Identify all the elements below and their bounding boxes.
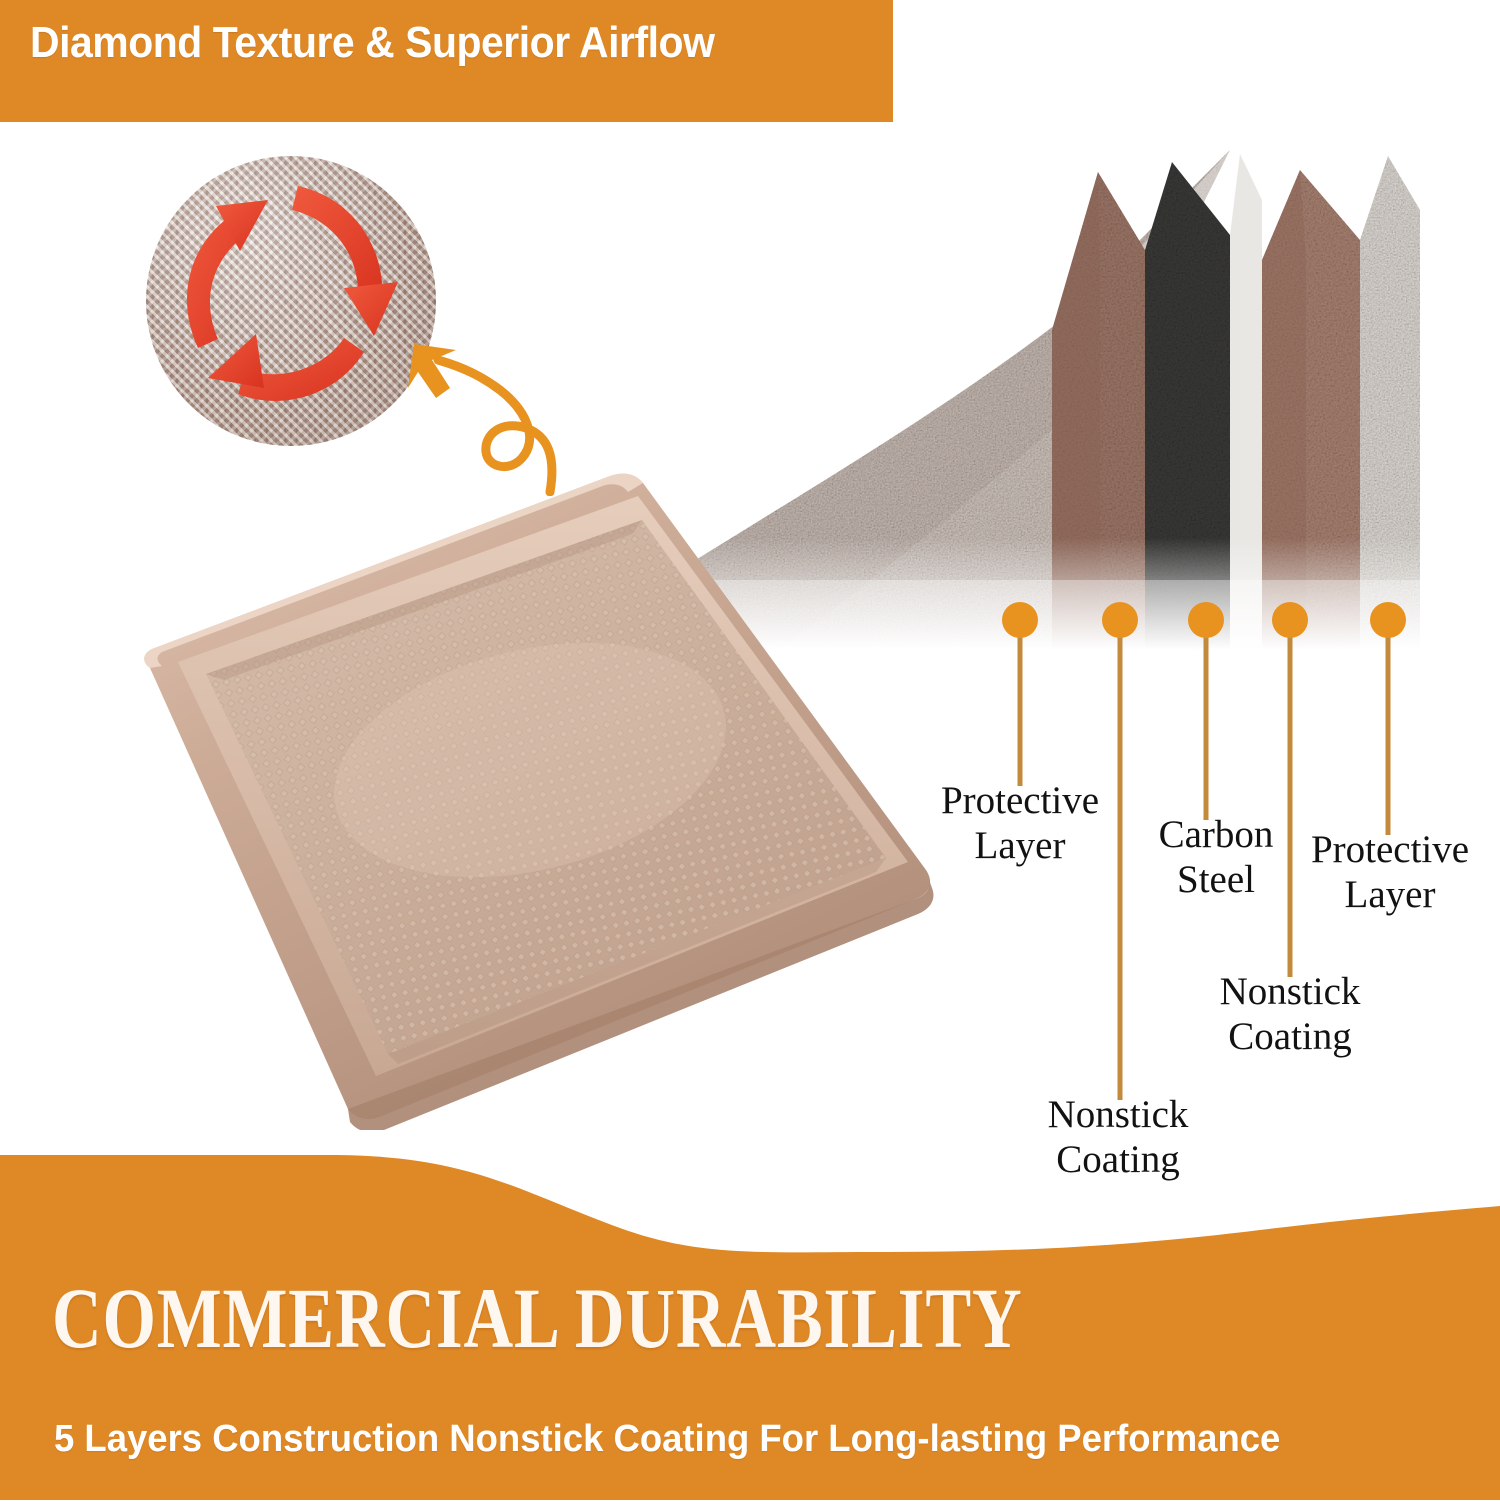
callout-dot-1 bbox=[1002, 602, 1038, 638]
callout-dot-5 bbox=[1370, 602, 1406, 638]
callout-label-nonstick-coating-inner: Nonstick Coating bbox=[1204, 969, 1376, 1059]
footer-title: COMMERCIAL DURABILITY bbox=[52, 1268, 1023, 1368]
callout-label-protective-layer-outer: Protective Layer bbox=[930, 778, 1110, 868]
infographic-stage: Diamond Texture & Superior Airflow bbox=[0, 0, 1500, 1500]
callout-dot-2 bbox=[1102, 602, 1138, 638]
callout-label-protective-layer-inner: Protective Layer bbox=[1300, 827, 1480, 917]
callout-dot-4 bbox=[1272, 602, 1308, 638]
callout-label-carbon-steel: Carbon Steel bbox=[1140, 812, 1292, 902]
footer-subtitle: 5 Layers Construction Nonstick Coating F… bbox=[54, 1418, 1280, 1461]
callout-dot-3 bbox=[1188, 602, 1224, 638]
callout-dots bbox=[1002, 602, 1406, 638]
